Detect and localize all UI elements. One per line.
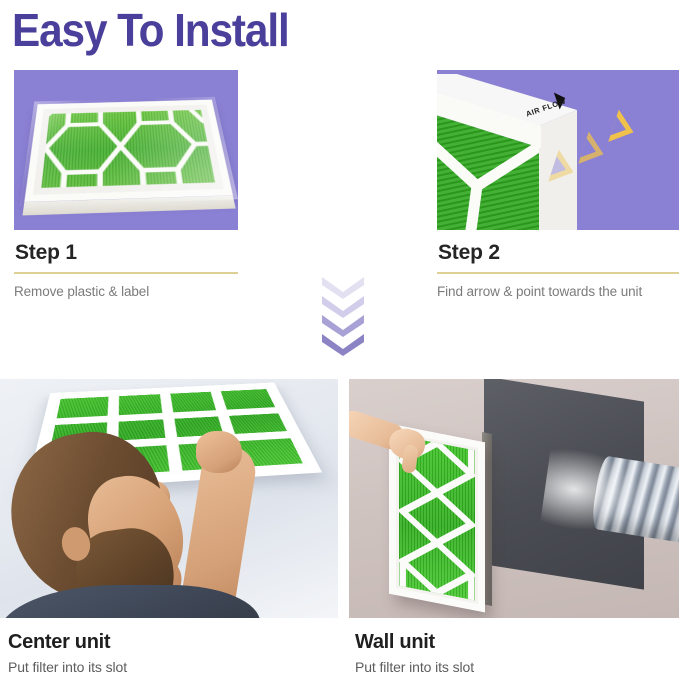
step-1-caption: Remove plastic & label: [14, 282, 238, 301]
person-installing-filter: [4, 423, 234, 618]
center-unit-image: [0, 379, 338, 618]
center-unit-caption: Put filter into its slot: [8, 658, 338, 677]
step-2-caption: Find arrow & point towards the unit: [437, 282, 679, 301]
right-hand: [196, 431, 242, 473]
step-2-heading: Step 2: [438, 240, 679, 266]
step-2-image: AIR FLOW: [437, 70, 679, 230]
duct-highlight: [540, 447, 646, 538]
center-unit-panel: Center unit Put filter into its slot: [0, 379, 338, 677]
step-2-rule: [437, 272, 679, 274]
page-title: Easy To Install: [12, 2, 289, 58]
step-1-panel: Step 1 Remove plastic & label: [14, 70, 238, 301]
filter-frame: [24, 100, 233, 203]
wall-unit-image: [349, 379, 679, 618]
center-unit-heading: Center unit: [8, 630, 338, 654]
step-1-rule: [14, 272, 238, 274]
wall-unit-panel: Wall unit Put filter into its slot: [349, 379, 679, 677]
chevron-divider: [322, 277, 364, 355]
filter-media: [41, 110, 215, 188]
packaged-filter-graphic: [24, 100, 233, 203]
step-1-image: [14, 70, 238, 230]
chevron-down-icon-4: [322, 334, 364, 356]
hand-placing-filter: [349, 417, 427, 465]
wall-unit-caption: Put filter into its slot: [355, 658, 679, 677]
filter-mesh-grid: [41, 110, 215, 188]
step-1-heading: Step 1: [15, 240, 238, 266]
wall-unit-heading: Wall unit: [355, 630, 679, 654]
step-2-panel: AIR FLOW Step 2 Find arrow & point towar…: [437, 70, 679, 301]
